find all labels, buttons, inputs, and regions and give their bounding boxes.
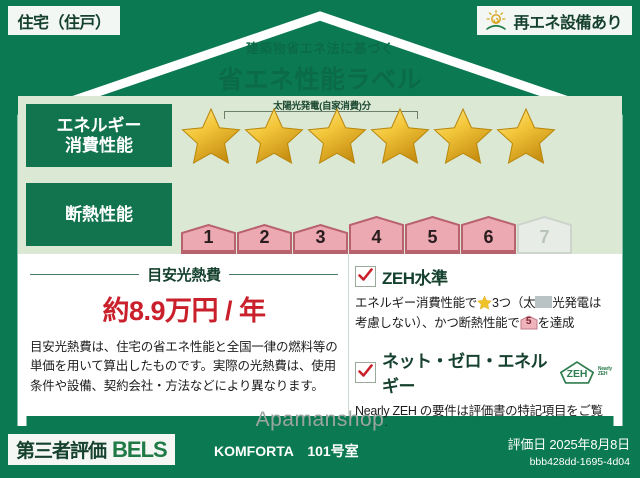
building-name: KOMFORTA 101号室	[214, 441, 359, 461]
bels-badge: 第三者評価 BELS	[8, 434, 175, 465]
label-title-main: 省エネ性能ラベル	[0, 60, 640, 96]
zeh-section: ZEH水準 エネルギー消費性能で3つ（太光発電は考慮しない）、かつ断熱性能で5を…	[348, 254, 622, 416]
energy-performance-label: 住宅（住戸） 再エネ設備あり 建築物省エネ法に基づく 省エネ性能ラベル 太陽光発…	[0, 0, 640, 478]
heading-rule-right	[229, 274, 338, 275]
zeh-desc-part2: 光発電	[552, 296, 589, 310]
heading-rule-left	[30, 274, 139, 275]
renewable-energy-badge-label: 再エネ設備あり	[513, 9, 622, 33]
insulation-chip: 1	[180, 224, 237, 254]
insulation-chip: 6	[460, 216, 517, 254]
zeh-desc-part1: エネルギー消費性能で	[355, 296, 477, 310]
star-icon	[432, 106, 494, 166]
insulation-performance-label: 断熱性能	[26, 183, 172, 246]
insulation-grade-chips: 1234567	[172, 175, 622, 254]
star-icon	[243, 106, 305, 166]
energy-performance-value	[172, 96, 622, 175]
evaluation-date: 評価日 2025年8月8日	[508, 434, 630, 453]
check-icon	[357, 363, 374, 380]
insulation-chip: 7	[516, 216, 573, 254]
energy-performance-label-line2: 消費性能	[65, 136, 133, 156]
label-card: 太陽光発電(自家消費)分 エネルギー 消費性能 断熱性能 1234567	[18, 96, 622, 416]
insulation-chip: 4	[348, 216, 405, 254]
insulation-performance-label-text: 断熱性能	[65, 205, 133, 225]
zeh-standard-description: エネルギー消費性能で3つ（太光発電は考慮しない）、かつ断熱性能で5を達成	[355, 293, 612, 333]
insulation-chip: 2	[236, 224, 293, 254]
insulation-chip-number: 5	[404, 227, 461, 248]
zeh-desc-star-count: 3つ（太	[492, 296, 535, 310]
insulation-chip-number: 6	[460, 227, 517, 248]
zeh-netzero-checkbox[interactable]	[355, 362, 376, 383]
evaluation-info: 評価日 2025年8月8日 bbb428dd-1695-4d04	[508, 434, 630, 468]
zeh-standard-heading: ZEH水準	[355, 264, 612, 289]
insulation-chip: 3	[292, 224, 349, 254]
insulation-performance-row: 断熱性能 1234567	[18, 175, 622, 254]
insulation-chip-number: 7	[516, 227, 573, 248]
bels-badge-en: BELS	[112, 437, 167, 463]
inline-grade-chip: 5	[520, 315, 538, 330]
utility-cost-heading-text: 目安光熱費	[139, 264, 229, 285]
zeh-netzero-title: ネット・ゼロ・エネルギー	[382, 347, 550, 397]
zeh-house-logo-icon: ZEH	[558, 360, 596, 385]
zeh-logo-sub-line2: ZEH	[598, 371, 607, 377]
insulation-chip-number: 2	[236, 227, 293, 248]
label-title-block: 建築物省エネ法に基づく 省エネ性能ラベル	[0, 38, 640, 96]
inline-star-icon	[477, 295, 492, 310]
inline-chip-number: 5	[520, 314, 538, 330]
energy-performance-row: エネルギー 消費性能	[18, 96, 622, 175]
insulation-chip-number: 3	[292, 227, 349, 248]
star-rating	[172, 96, 622, 175]
redacted-text-block	[535, 296, 552, 308]
zeh-standard-title: ZEH水準	[382, 264, 448, 289]
star-icon	[369, 106, 431, 166]
insulation-performance-value: 1234567	[172, 175, 622, 254]
zeh-standard-block: ZEH水準 エネルギー消費性能で3つ（太光発電は考慮しない）、かつ断熱性能で5を…	[355, 264, 612, 333]
zeh-logo: ZEH Nearly ZEH	[558, 360, 612, 385]
utility-cost-heading: 目安光熱費	[30, 264, 338, 285]
zeh-logo-subtext: Nearly ZEH	[598, 367, 612, 378]
category-tag: 住宅（住戸）	[8, 6, 120, 35]
star-icon	[306, 106, 368, 166]
label-title-sub: 建築物省エネ法に基づく	[0, 38, 640, 57]
zeh-standard-checkbox[interactable]	[355, 266, 376, 287]
zeh-netzero-heading: ネット・ゼロ・エネルギー ZEH Nearly ZEH	[355, 347, 612, 397]
svg-text:ZEH: ZEH	[566, 369, 587, 380]
performance-section: 太陽光発電(自家消費)分 エネルギー 消費性能 断熱性能 1234567	[18, 96, 622, 254]
renewable-energy-badge: 再エネ設備あり	[477, 6, 632, 35]
insulation-chip-number: 1	[180, 227, 237, 248]
star-icon	[180, 106, 242, 166]
energy-performance-label-line1: エネルギー	[57, 116, 142, 136]
utility-cost-section: 目安光熱費 約8.9万円 / 年 目安光熱費は、住宅の省エネ性能と全国一律の燃料…	[18, 254, 348, 416]
bels-badge-jp: 第三者評価	[16, 436, 106, 463]
label-footer: 第三者評価 BELS KOMFORTA 101号室 評価日 2025年8月8日 …	[0, 426, 640, 478]
star-icon	[495, 106, 557, 166]
insulation-chip: 5	[404, 216, 461, 254]
label-body: 目安光熱費 約8.9万円 / 年 目安光熱費は、住宅の省エネ性能と全国一律の燃料…	[18, 254, 622, 416]
evaluation-id: bbb428dd-1695-4d04	[508, 456, 630, 468]
utility-cost-description: 目安光熱費は、住宅の省エネ性能と全国一律の燃料等の単価を用いて算出したものです。…	[30, 338, 338, 396]
energy-performance-label: エネルギー 消費性能	[26, 104, 172, 167]
check-icon	[357, 267, 374, 284]
insulation-chip-number: 4	[348, 227, 405, 248]
sun-icon	[483, 9, 509, 33]
utility-cost-value: 約8.9万円 / 年	[30, 289, 338, 328]
zeh-desc-part4: を達成	[538, 316, 575, 330]
